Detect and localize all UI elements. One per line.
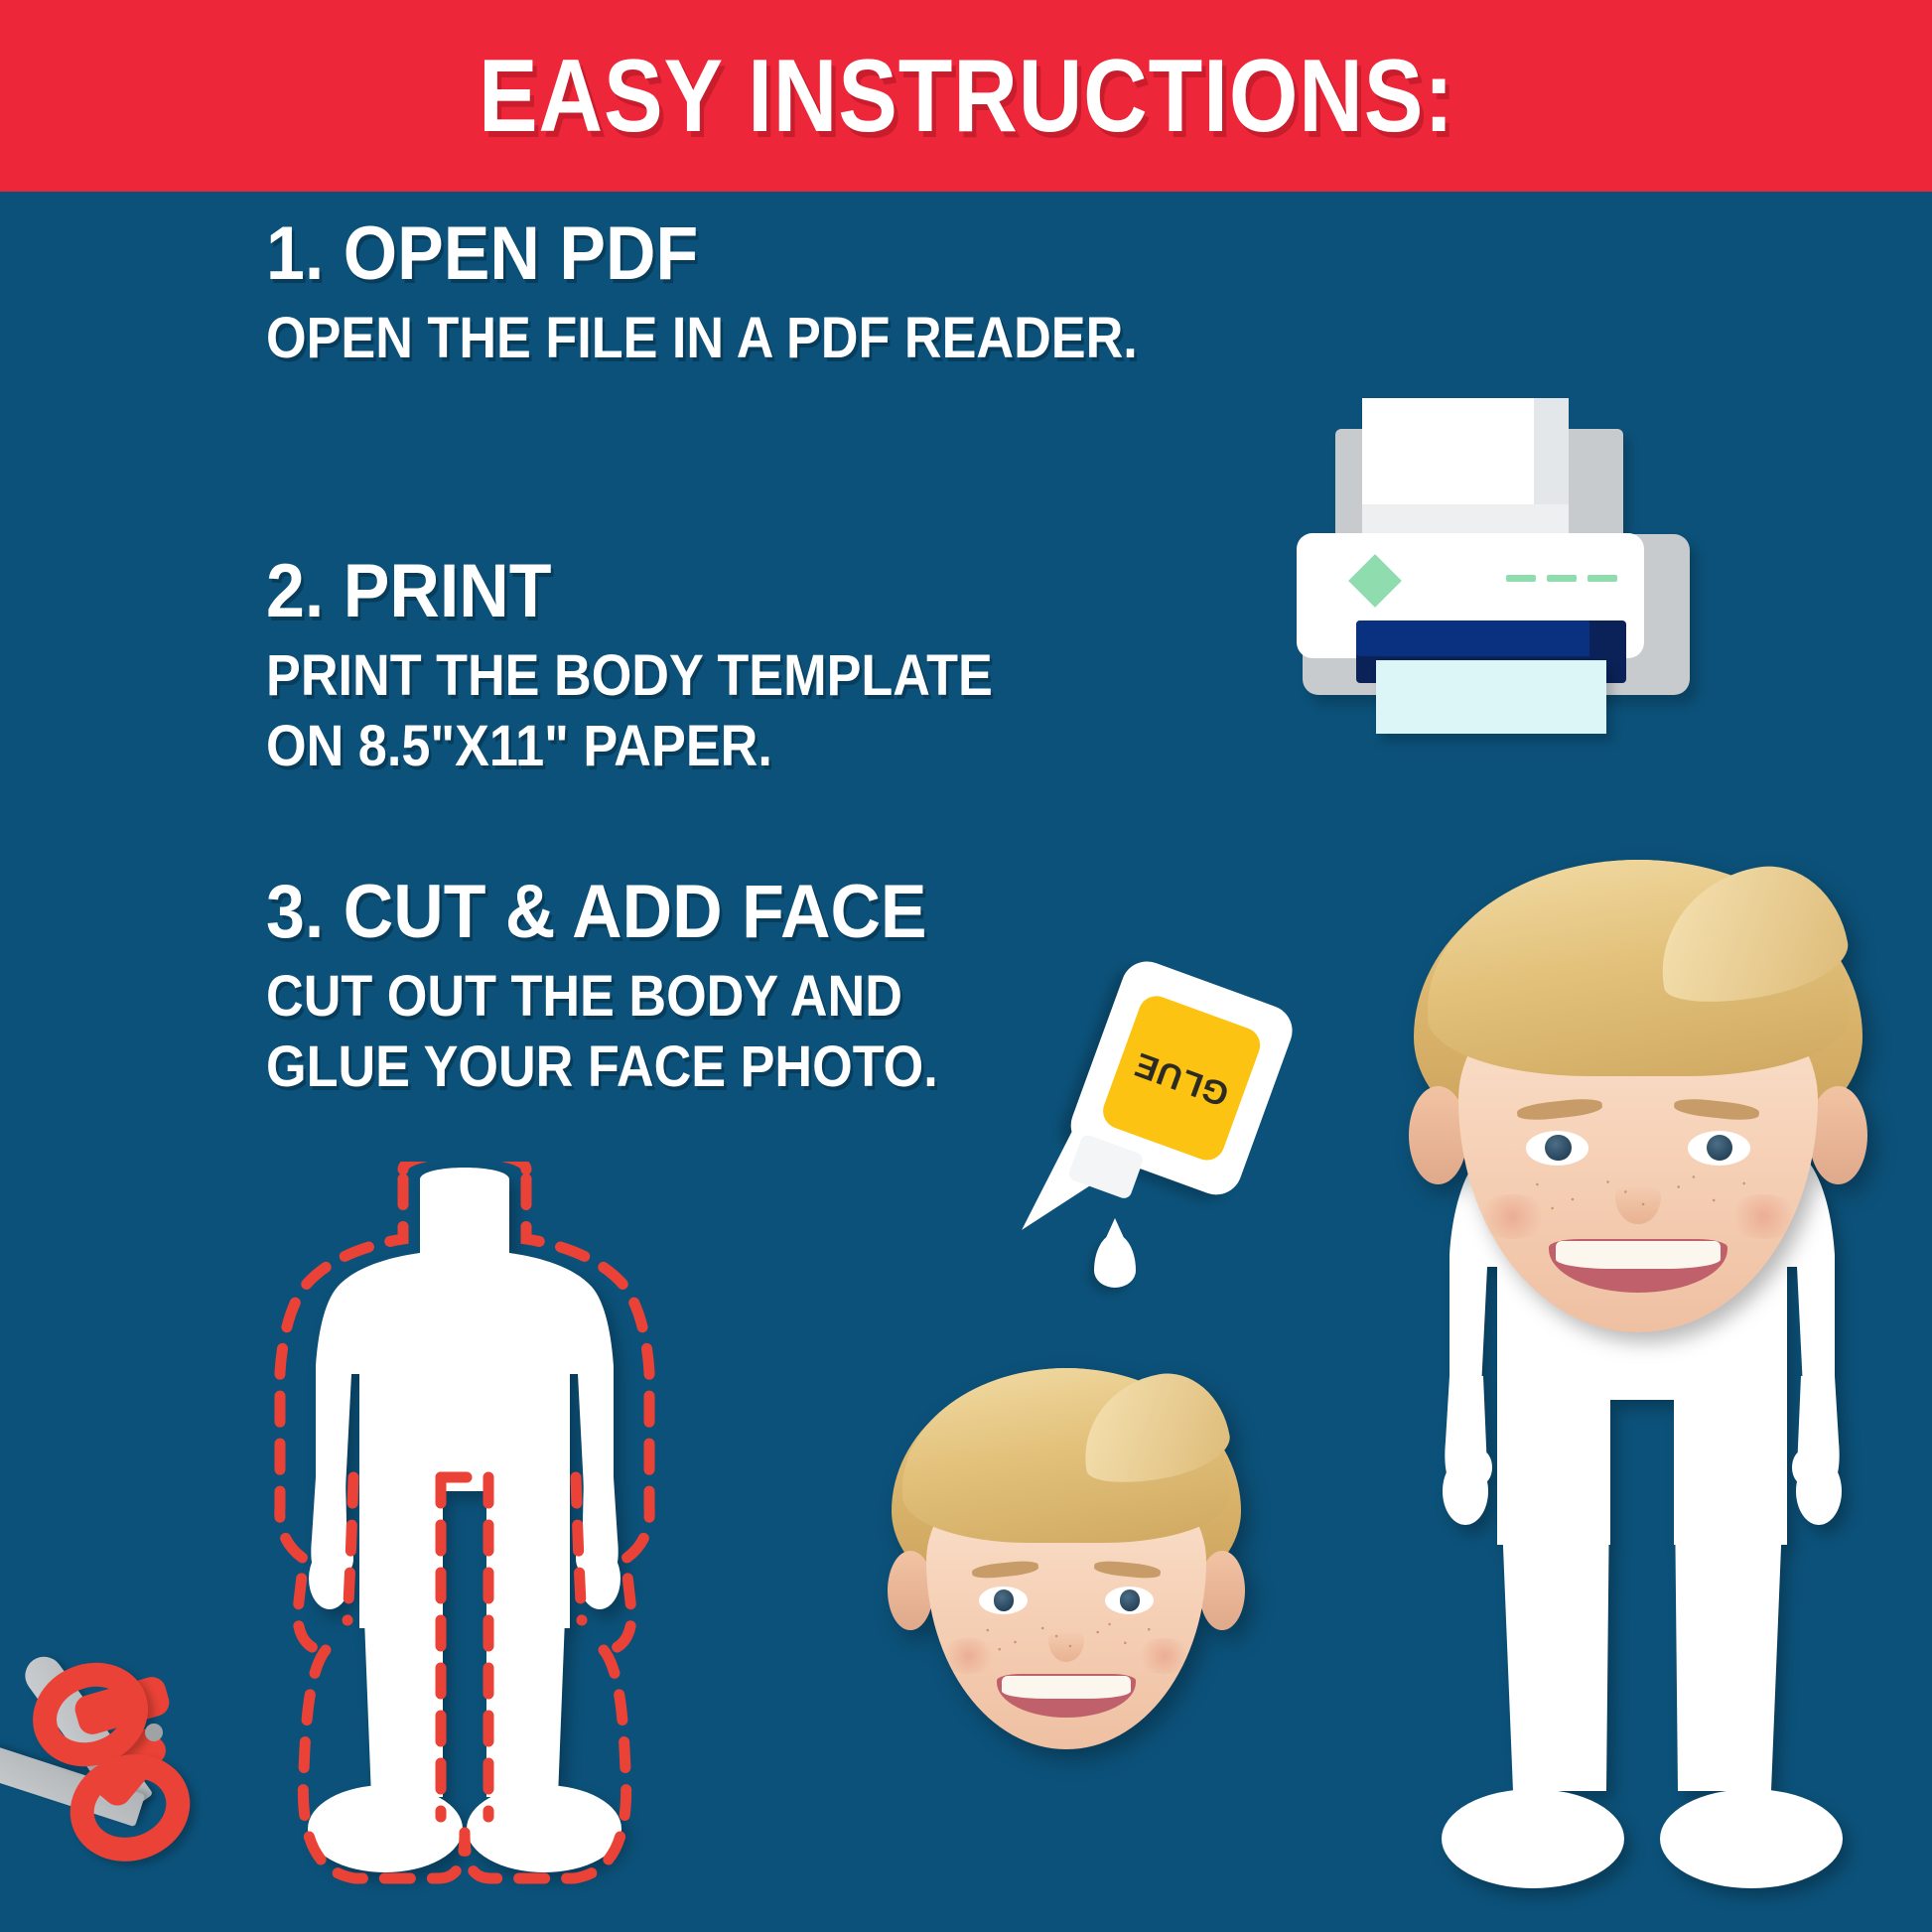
- step-2-line-1: PRINT THE BODY TEMPLATE: [266, 641, 993, 712]
- step-1: 1. OPEN PDF OPEN THE FILE IN A PDF READE…: [266, 214, 1234, 374]
- glued-face-freckles: [1512, 1170, 1763, 1219]
- face-eye-left: [979, 1587, 1028, 1614]
- printer-icon: [1281, 377, 1708, 764]
- glue-bottle-rotated: GLUE: [1053, 954, 1300, 1230]
- printer-dash-3-icon: [1587, 575, 1617, 582]
- step-2-line-2: ON 8.5"X11" PAPER.: [266, 712, 993, 782]
- scissors-pivot-icon: [145, 1724, 163, 1741]
- glued-face-iris-right: [1707, 1135, 1733, 1161]
- glued-face-photo-icon: [1414, 860, 1863, 1352]
- printer-dash-2-icon: [1547, 575, 1577, 582]
- printer-paper-slot: [1356, 621, 1589, 656]
- printer-dash-1-icon: [1506, 575, 1536, 582]
- body-silhouette-icon: [316, 1168, 614, 1628]
- glue-drop-icon: [1094, 1234, 1136, 1288]
- glued-face-iris-left: [1545, 1135, 1572, 1161]
- header-banner: EASY INSTRUCTIONS:: [0, 0, 1932, 192]
- step-1-heading: 1. OPEN PDF: [266, 214, 1157, 294]
- step-2-heading: 2. PRINT: [266, 552, 1009, 631]
- face-teeth: [1002, 1676, 1131, 1699]
- glued-face-teeth: [1556, 1241, 1721, 1269]
- face-photo-icon: [892, 1368, 1241, 1765]
- step-1-line-1: OPEN THE FILE IN A PDF READER.: [266, 304, 1138, 374]
- step-2: 2. PRINT PRINT THE BODY TEMPLATE ON 8.5"…: [266, 552, 1073, 781]
- face-freckles: [968, 1618, 1164, 1658]
- face-eye-right: [1105, 1587, 1154, 1614]
- page-title: EASY INSTRUCTIONS:: [479, 45, 1454, 148]
- step-3-line-2: GLUE YOUR FACE PHOTO.: [266, 1033, 938, 1103]
- step-3-line-1: CUT OUT THE BODY AND: [266, 962, 938, 1033]
- finished-figure-with-face: [1394, 1072, 1890, 1932]
- instructions-poster: EASY INSTRUCTIONS: 1. OPEN PDF OPEN THE …: [0, 0, 1932, 1932]
- face-iris-left: [994, 1589, 1015, 1610]
- glue-label-text: GLUE: [1129, 1043, 1234, 1113]
- glued-face-eye-left: [1526, 1131, 1588, 1166]
- step-3: 3. CUT & ADD FACE CUT OUT THE BODY AND G…: [266, 873, 1013, 1102]
- scissors-icon: [28, 1608, 345, 1906]
- glue-bottle-icon: GLUE: [1047, 978, 1365, 1355]
- step-3-heading: 3. CUT & ADD FACE: [266, 873, 953, 952]
- face-iris-right: [1120, 1589, 1141, 1610]
- glued-face-eye-right: [1688, 1131, 1750, 1166]
- printer-output-paper: [1376, 660, 1606, 734]
